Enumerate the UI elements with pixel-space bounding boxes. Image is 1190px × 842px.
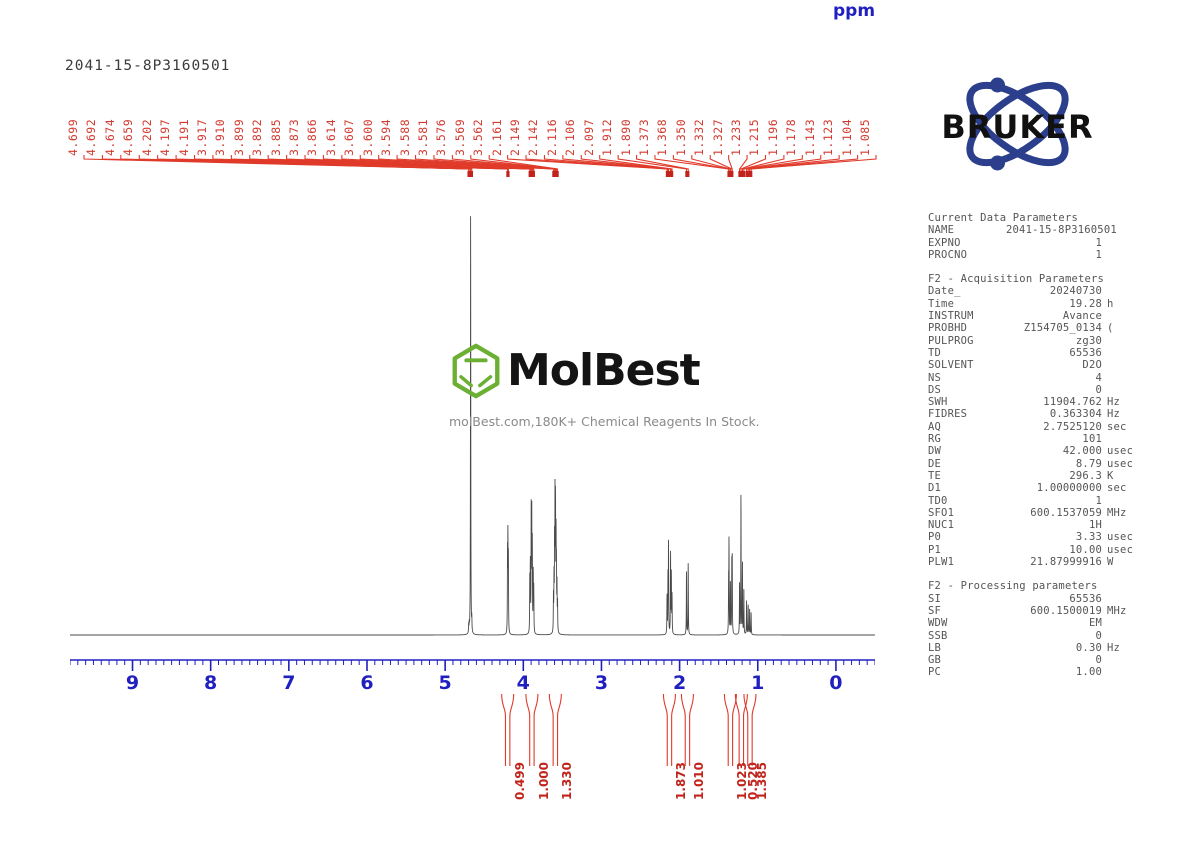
integral-value: 1.385 [755,762,769,800]
peak-ppm-label: 1.104 [840,119,854,156]
param-value: zg30 [1006,335,1102,347]
param-value: 600.1537059 [1006,507,1102,519]
param-key: SWH [928,396,1006,408]
param-value: 20240730 [1006,285,1102,297]
param-value: 0.30 [1006,642,1102,654]
axis-tick-label: 7 [282,672,295,694]
molbest-watermark: MolBest molBest.com,180K+ Chemical Reage… [447,342,767,434]
param-row: GB0 [928,654,1158,666]
param-key: DW [928,445,1006,457]
param-value: D2O [1006,359,1102,371]
axis-tick-label: 3 [595,672,608,694]
param-row: DS0 [928,384,1158,396]
axis-tick-label: 5 [439,672,452,694]
param-row: FIDRES0.363304Hz [928,408,1158,420]
param-key: PLW1 [928,556,1006,568]
param-rows-acquisition: Date_20240730Time19.28hINSTRUMAvancePROB… [928,285,1158,568]
param-unit: usec [1102,445,1158,457]
param-key: PROCNO [928,249,1006,261]
peak-fan-connectors [0,155,890,177]
param-unit: W [1102,556,1158,568]
param-value: 1.00 [1006,666,1102,678]
param-value: 4 [1006,372,1102,384]
param-value: 0 [1006,654,1102,666]
integral-value: 1.873 [674,762,688,800]
param-row: AQ2.7525120sec [928,421,1158,433]
peak-ppm-label: 3.866 [305,119,319,156]
peak-ppm-label: 4.659 [121,119,135,156]
param-row: DW42.000usec [928,445,1158,457]
param-value: 0.363304 [1006,408,1102,420]
param-key: PROBHD [928,322,1006,334]
param-key: Date_ [928,285,1006,297]
param-key: D1 [928,482,1006,494]
param-unit [1102,359,1158,371]
param-unit: sec [1102,421,1158,433]
param-key: TD [928,347,1006,359]
param-row: DE8.79usec [928,458,1158,470]
param-key: GB [928,654,1006,666]
axis-tick-label: 1 [751,672,764,694]
param-unit [1102,285,1158,297]
peak-label-group: 4.6994.6924.6744.6594.2024.1974.1913.917… [0,84,890,156]
ppm-axis-unit-label: ppm [833,1,875,21]
peak-ppm-label: 2.106 [563,119,577,156]
integral-value: 1.330 [560,762,574,800]
axis-tick-label: 9 [126,672,139,694]
param-row: Date_20240730 [928,285,1158,297]
peak-ppm-label: 3.576 [434,119,448,156]
param-unit [1102,224,1158,236]
param-row: RG101 [928,433,1158,445]
peak-ppm-label: 1.912 [600,119,614,156]
integral-value-group: 0.4991.0001.3301.8731.0101.0230.5201.385 [0,700,890,780]
param-unit [1102,335,1158,347]
peak-ppm-label: 3.562 [471,119,485,156]
param-unit [1102,372,1158,384]
peak-ppm-label: 1.196 [766,119,780,156]
peak-ppm-label: 2.142 [526,119,540,156]
param-unit [1102,310,1158,322]
param-unit: usec [1102,531,1158,543]
section-heading-processing: F2 - Processing parameters [928,580,1158,592]
peak-ppm-label: 3.594 [379,119,393,156]
peak-ppm-label: 3.892 [250,119,264,156]
peak-ppm-label: 1.215 [747,119,761,156]
peak-ppm-label: 2.149 [508,119,522,156]
peak-ppm-label: 1.327 [711,119,725,156]
param-unit [1102,347,1158,359]
axis-tick-label: 0 [829,672,842,694]
param-value: 3.33 [1006,531,1102,543]
param-value: Z154705_0134 [1006,322,1102,334]
molbest-logo: MolBest [447,342,700,400]
param-row: PLW121.87999916W [928,556,1158,568]
param-key: TD0 [928,495,1006,507]
param-value: 600.1500019 [1006,605,1102,617]
peak-ppm-label: 1.350 [674,119,688,156]
param-key: P0 [928,531,1006,543]
param-row: Time19.28h [928,298,1158,310]
param-row: P03.33usec [928,531,1158,543]
param-key: WDW [928,617,1006,629]
param-unit: usec [1102,544,1158,556]
peak-ppm-label: 4.197 [158,119,172,156]
peak-ppm-label: 3.600 [361,119,375,156]
param-value: 8.79 [1006,458,1102,470]
param-value: 1.00000000 [1006,482,1102,494]
param-row: SI65536 [928,593,1158,605]
param-key: SF [928,605,1006,617]
param-row: PC1.00 [928,666,1158,678]
axis-tick-label: 4 [517,672,530,694]
param-unit: Hz [1102,408,1158,420]
param-value: Avance [1006,310,1102,322]
param-key: EXPNO [928,237,1006,249]
bruker-atom-icon: BRUKER [920,68,1115,180]
section-heading-current-data: Current Data Parameters [928,212,1158,224]
param-row: SSB0 [928,630,1158,642]
param-value: 65536 [1006,347,1102,359]
param-value: 2.7525120 [1006,421,1102,433]
param-unit: sec [1102,482,1158,494]
peak-ppm-label: 2.116 [545,119,559,156]
peak-ppm-label: 1.890 [619,119,633,156]
param-key: RG [928,433,1006,445]
peak-ppm-label: 4.191 [177,119,191,156]
param-unit [1102,630,1158,642]
param-value: 296.3 [1006,470,1102,482]
peak-ppm-label: 3.607 [342,119,356,156]
param-row: PROCNO1 [928,249,1158,261]
param-key: TE [928,470,1006,482]
param-key: SSB [928,630,1006,642]
param-unit [1102,249,1158,261]
param-rows-current-data: NAME2041-15-8P3160501EXPNO1PROCNO1 [928,224,1158,261]
param-unit [1102,617,1158,629]
param-key: P1 [928,544,1006,556]
param-unit: MHz [1102,507,1158,519]
peak-ppm-label: 3.910 [213,119,227,156]
param-value: 101 [1006,433,1102,445]
param-key: SI [928,593,1006,605]
param-unit [1102,593,1158,605]
param-row: SWH11904.762Hz [928,396,1158,408]
param-unit [1102,495,1158,507]
peak-ppm-label: 1.332 [692,119,706,156]
param-unit: h [1102,298,1158,310]
param-unit [1102,654,1158,666]
param-value: 1H [1006,519,1102,531]
param-key: AQ [928,421,1006,433]
peak-ppm-label: 3.899 [232,119,246,156]
param-row: SF600.1500019MHz [928,605,1158,617]
param-key: SFO1 [928,507,1006,519]
peak-ppm-label: 3.569 [453,119,467,156]
peak-ppm-label: 1.233 [729,119,743,156]
parameter-panel: Current Data Parameters NAME2041-15-8P31… [928,212,1158,679]
peak-ppm-label: 4.699 [66,119,80,156]
hexagon-icon [447,342,505,400]
param-unit [1102,384,1158,396]
peak-ppm-label: 2.161 [490,119,504,156]
param-value: 1 [1006,237,1102,249]
peak-ppm-label: 3.581 [416,119,430,156]
param-key: INSTRUM [928,310,1006,322]
param-unit: ( [1102,322,1158,334]
integral-value: 1.000 [537,762,551,800]
param-value: 11904.762 [1006,396,1102,408]
param-row: EXPNO1 [928,237,1158,249]
param-unit [1102,237,1158,249]
param-unit [1102,519,1158,531]
param-unit [1102,666,1158,678]
spacer [928,568,1158,580]
param-value: 65536 [1006,593,1102,605]
param-row: P110.00usec [928,544,1158,556]
param-row: TD01 [928,495,1158,507]
param-key: NS [928,372,1006,384]
axis-tick-label: 8 [204,672,217,694]
peak-ppm-label: 3.614 [324,119,338,156]
param-value: EM [1006,617,1102,629]
sample-title: 2041-15-8P3160501 [65,58,230,74]
param-key: NUC1 [928,519,1006,531]
peak-ppm-label: 3.588 [398,119,412,156]
param-key: Time [928,298,1006,310]
param-row: INSTRUMAvance [928,310,1158,322]
param-key: PC [928,666,1006,678]
bruker-wordmark: BRUKER [941,108,1093,146]
axis-tick-label: 2 [673,672,686,694]
param-key: NAME [928,224,1006,236]
param-row: PULPROGzg30 [928,335,1158,347]
peak-ppm-label: 1.178 [784,119,798,156]
param-value: 19.28 [1006,298,1102,310]
param-row: SFO1600.1537059MHz [928,507,1158,519]
param-value: 2041-15-8P3160501 [1006,224,1102,236]
param-key: DS [928,384,1006,396]
param-value: 42.000 [1006,445,1102,457]
molbest-tagline: molBest.com,180K+ Chemical Reagents In S… [449,414,760,429]
param-unit [1102,433,1158,445]
param-rows-processing: SI65536SF600.1500019MHzWDWEMSSB0LB0.30Hz… [928,593,1158,679]
param-row: NAME2041-15-8P3160501 [928,224,1158,236]
section-heading-acquisition: F2 - Acquisition Parameters [928,273,1158,285]
peak-ppm-label: 4.202 [140,119,154,156]
peak-ppm-label: 1.143 [803,119,817,156]
param-unit: Hz [1102,396,1158,408]
peak-ppm-label: 1.368 [655,119,669,156]
param-key: SOLVENT [928,359,1006,371]
peak-ppm-label: 3.885 [269,119,283,156]
bruker-logo: BRUKER [920,68,1115,180]
param-key: PULPROG [928,335,1006,347]
peak-ppm-label: 1.085 [858,119,872,156]
peak-ppm-label: 4.674 [103,119,117,156]
axis-tick-label: 6 [360,672,373,694]
peak-ppm-label: 2.097 [582,119,596,156]
param-row: TE296.3K [928,470,1158,482]
integral-value: 1.010 [692,762,706,800]
peak-ppm-label: 3.917 [195,119,209,156]
peak-ppm-label: 1.373 [637,119,651,156]
peak-ppm-label: 1.123 [821,119,835,156]
molbest-wordmark: MolBest [507,349,700,393]
param-row: TD65536 [928,347,1158,359]
param-row: WDWEM [928,617,1158,629]
param-row: PROBHDZ154705_0134( [928,322,1158,334]
param-value: 0 [1006,384,1102,396]
integral-value: 0.499 [513,762,527,800]
param-unit: MHz [1102,605,1158,617]
param-key: FIDRES [928,408,1006,420]
param-row: NS4 [928,372,1158,384]
param-key: LB [928,642,1006,654]
spacer [928,261,1158,273]
param-unit: Hz [1102,642,1158,654]
param-value: 0 [1006,630,1102,642]
param-value: 10.00 [1006,544,1102,556]
param-unit: K [1102,470,1158,482]
param-value: 21.87999916 [1006,556,1102,568]
param-row: SOLVENTD2O [928,359,1158,371]
param-value: 1 [1006,495,1102,507]
param-row: NUC11H [928,519,1158,531]
param-value: 1 [1006,249,1102,261]
param-row: D11.00000000sec [928,482,1158,494]
param-row: LB0.30Hz [928,642,1158,654]
param-unit: usec [1102,458,1158,470]
peak-ppm-label: 3.873 [287,119,301,156]
peak-ppm-label: 4.692 [84,119,98,156]
param-key: DE [928,458,1006,470]
